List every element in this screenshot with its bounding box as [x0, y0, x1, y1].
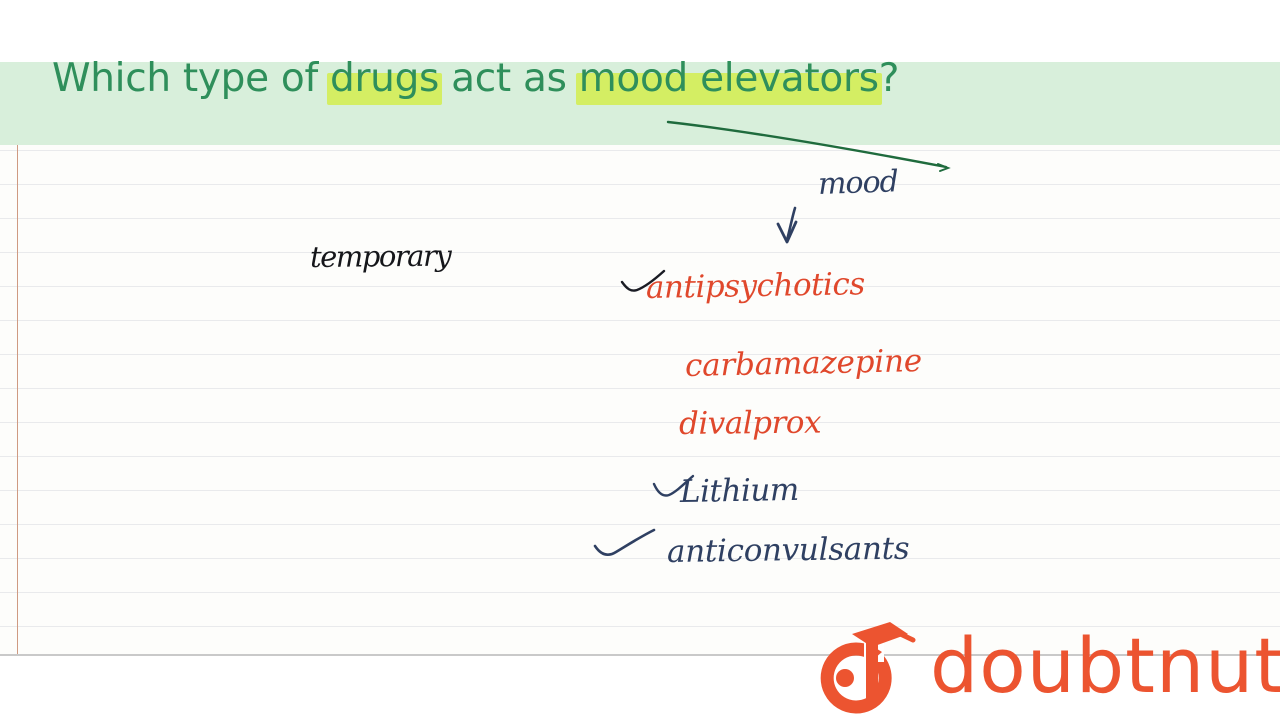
rule-line — [0, 150, 1280, 151]
doubtnut-d-graduation-cap-logo-icon — [812, 618, 930, 714]
rule-line — [0, 490, 1280, 491]
notebook-paper — [0, 62, 1280, 656]
rule-line — [0, 422, 1280, 423]
rule-line — [0, 524, 1280, 525]
rule-line — [0, 456, 1280, 457]
handwritten-note-carbamazepine: carbamazepine — [685, 343, 923, 384]
handwritten-note-mood: mood — [817, 164, 898, 202]
rule-line — [0, 558, 1280, 559]
question-segment-4: ? — [879, 56, 899, 101]
rule-line — [0, 184, 1280, 185]
handwritten-note-lithium: Lithium — [680, 472, 799, 510]
handwritten-note-temporary: temporary — [310, 239, 451, 274]
notebook-margin-line — [17, 145, 18, 655]
rule-line — [0, 286, 1280, 287]
rule-line — [0, 354, 1280, 355]
question-segment-0: Which type of — [52, 56, 330, 101]
question-segment-3-highlighted: mood elevators — [579, 55, 879, 103]
screenshot-root: Which type of drugs act as mood elevator… — [0, 0, 1280, 720]
question-segment-2: act as — [439, 56, 579, 101]
handwritten-note-anticonvulsants: anticonvulsants — [667, 531, 910, 570]
rule-line — [0, 592, 1280, 593]
question-segment-1-highlighted: drugs — [330, 55, 439, 103]
doubtnut-logo: doubtnut — [812, 618, 1272, 714]
handwritten-note-divalprox: divalprox — [679, 405, 821, 442]
rule-line — [0, 218, 1280, 219]
rule-line — [0, 252, 1280, 253]
question-text: Which type of drugs act as mood elevator… — [52, 55, 1252, 103]
handwritten-note-antipsychotics: antipsychotics — [646, 266, 865, 306]
rule-line — [0, 388, 1280, 389]
doubtnut-wordmark: doubtnut — [930, 626, 1280, 706]
rule-line — [0, 320, 1280, 321]
